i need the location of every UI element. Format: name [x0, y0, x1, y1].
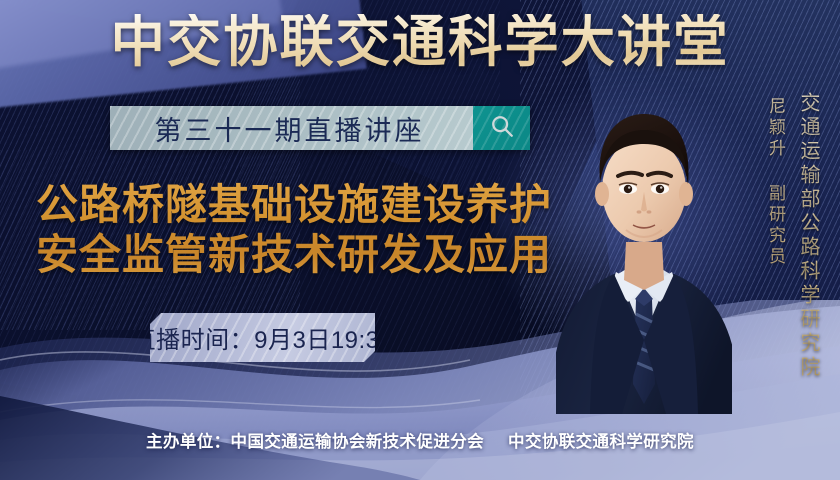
webinar-poster: 中交协联交通科学大讲堂 第三十一期直播讲座 公路桥隧基础设施建设养护 安全监管新…	[0, 0, 840, 480]
speaker-name-title: 尼颖升 副研究员	[763, 97, 788, 268]
page-title: 中交协联交通科学大讲堂	[13, 14, 828, 72]
footer-organizers: 主办单位：中国交通运输协会新技术促进分会中交协联交通科学研究院	[0, 428, 840, 452]
search-icon	[489, 113, 515, 144]
lecture-title-line2: 安全监管新技术研发及应用	[36, 230, 596, 280]
session-label: 第三十一期直播讲座	[110, 106, 473, 150]
lecture-title-line1: 公路桥隧基础设施建设养护	[36, 180, 596, 230]
footer-org-2: 中交协联交通科学研究院	[508, 433, 694, 451]
search-button[interactable]	[473, 106, 530, 150]
broadcast-time-badge: 直播时间：9月3日19:30	[150, 313, 375, 362]
speaker-organization: 交通运输部公路科学研究院	[795, 92, 824, 380]
footer-prefix: 主办单位：	[146, 433, 231, 451]
lecture-title: 公路桥隧基础设施建设养护 安全监管新技术研发及应用	[36, 180, 596, 280]
session-badge[interactable]: 第三十一期直播讲座	[110, 106, 530, 150]
footer-org-1: 中国交通运输协会新技术促进分会	[231, 433, 485, 451]
